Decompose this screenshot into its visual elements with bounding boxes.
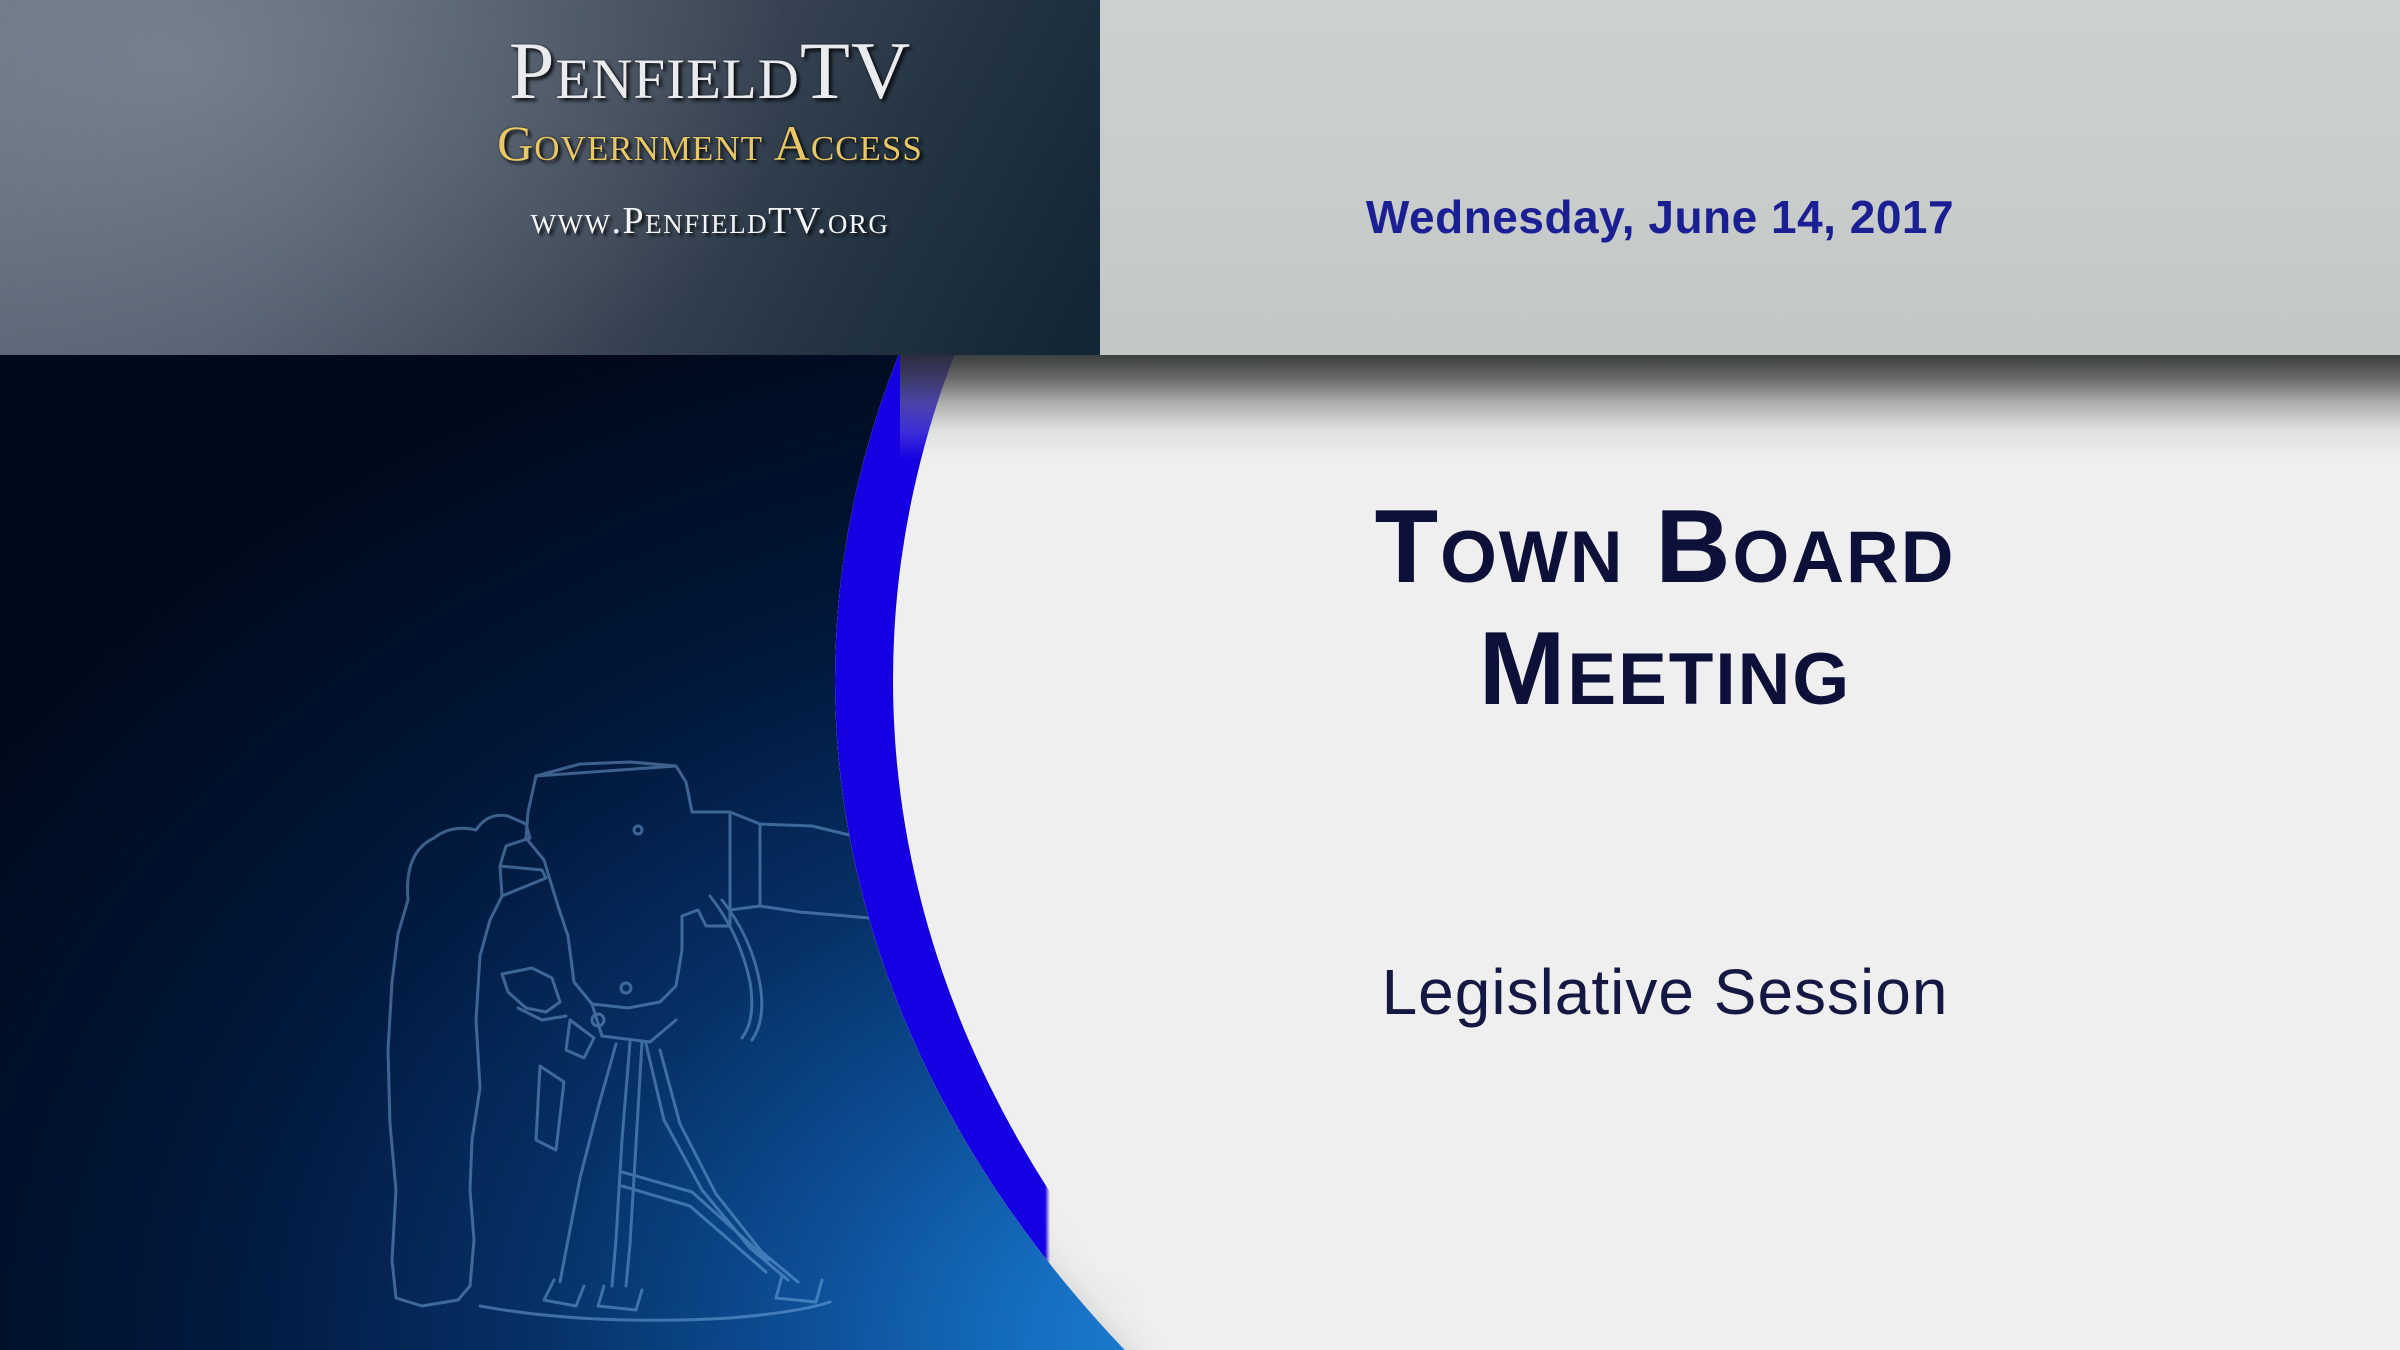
- logo-title: PenfieldTV: [420, 28, 1000, 114]
- page-title-line-2: Meeting: [1120, 617, 2210, 721]
- meeting-date: Wednesday, June 14, 2017: [1290, 190, 2030, 244]
- logo-website-url: www.PenfieldTV.org: [420, 201, 1000, 243]
- penfieldtv-logo: PenfieldTV Government Access www.Penfiel…: [420, 28, 1000, 243]
- logo-subtitle: Government Access: [420, 116, 1000, 171]
- header-right-gray-band: [1100, 0, 2400, 355]
- header-drop-shadow: [900, 355, 2400, 460]
- page-title-line-1: Town Board: [1120, 495, 2210, 599]
- page-title: Town Board Meeting: [1120, 495, 2210, 721]
- page-subtitle: Legislative Session: [1120, 955, 2210, 1029]
- title-card: PenfieldTV Government Access www.Penfiel…: [0, 0, 2400, 1350]
